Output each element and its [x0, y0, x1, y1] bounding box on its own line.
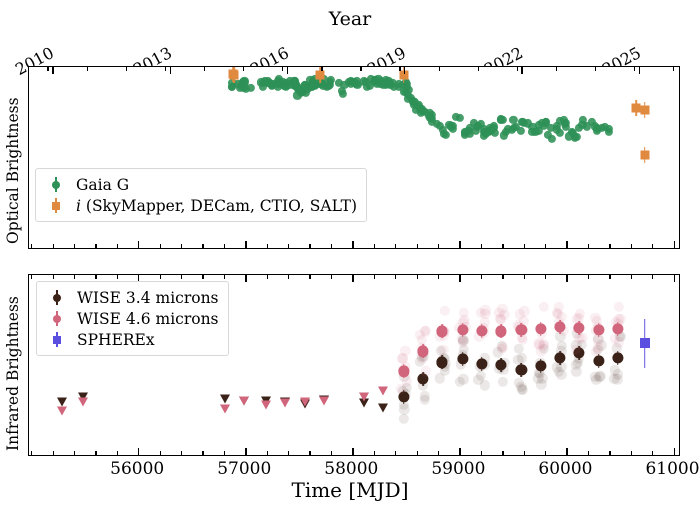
axis-tick — [674, 241, 675, 248]
axis-tick — [639, 67, 640, 74]
optical-y-axis-label: Optical Brightness — [4, 97, 22, 244]
axis-minor-tick — [502, 275, 503, 279]
axis-minor-tick — [126, 67, 127, 71]
axis-tick — [459, 241, 460, 248]
upper-limit-marker — [319, 396, 329, 405]
axis-minor-tick — [243, 67, 244, 71]
infrared-legend: WISE 3.4 micronsWISE 4.6 micronsSPHEREx — [36, 281, 229, 356]
data-point — [613, 301, 623, 311]
data-point — [595, 371, 605, 381]
upper-limit-marker — [57, 406, 67, 415]
data-point — [449, 125, 457, 133]
axis-minor-tick — [181, 275, 182, 279]
upper-limit-marker — [280, 399, 290, 408]
axis-minor-tick — [95, 275, 96, 279]
axis-minor-tick — [288, 451, 289, 455]
legend-item[interactable]: WISE 3.4 microns — [43, 287, 219, 308]
axis-minor-tick — [395, 275, 396, 279]
axis-tick — [566, 241, 567, 248]
axis-minor-tick — [545, 451, 546, 455]
axis-minor-tick — [360, 67, 361, 71]
axis-minor-tick — [31, 244, 32, 248]
legend-item[interactable]: SPHEREx — [43, 329, 219, 350]
axis-tick — [352, 241, 353, 248]
upper-limit-marker — [78, 398, 88, 407]
figure-lightcurve: Year 201020132016201920222025 Optical Br… — [0, 0, 700, 511]
axis-tick — [566, 275, 567, 282]
mjd-tick-label: 56000 — [110, 459, 164, 479]
data-point — [230, 70, 239, 79]
data-point — [571, 367, 581, 377]
mjd-tick-label: 57000 — [217, 459, 271, 479]
axis-minor-tick — [631, 244, 632, 248]
axis-minor-tick — [202, 451, 203, 455]
axis-tick — [245, 448, 246, 455]
bottom-axis-title: Time [MJD] — [0, 478, 700, 502]
upper-limit-marker — [378, 387, 388, 396]
data-point — [325, 82, 333, 90]
legend-circle-icon — [43, 294, 71, 302]
axis-tick — [674, 448, 675, 455]
axis-tick — [245, 275, 246, 282]
axis-minor-tick — [652, 244, 653, 248]
axis-minor-tick — [74, 244, 75, 248]
axis-minor-tick — [417, 275, 418, 279]
data-point — [491, 129, 499, 137]
mjd-tick-label: 59000 — [431, 459, 485, 479]
axis-minor-tick — [524, 275, 525, 279]
legend-square-icon — [43, 336, 71, 344]
axis-minor-tick — [288, 244, 289, 248]
axis-tick — [352, 448, 353, 455]
axis-minor-tick — [202, 275, 203, 279]
axis-minor-tick — [309, 244, 310, 248]
axis-minor-tick — [481, 244, 482, 248]
data-point — [339, 89, 347, 97]
axis-minor-tick — [439, 67, 440, 71]
data-point — [421, 326, 431, 336]
axis-minor-tick — [395, 451, 396, 455]
data-point — [246, 84, 254, 92]
axis-minor-tick — [588, 275, 589, 279]
axis-minor-tick — [53, 451, 54, 455]
axis-tick — [404, 67, 405, 74]
legend-label: WISE 4.6 microns — [71, 310, 219, 328]
data-point — [612, 352, 623, 363]
axis-tick — [245, 241, 246, 248]
axis-minor-tick — [321, 67, 322, 71]
axis-minor-tick — [31, 451, 32, 455]
axis-minor-tick — [481, 275, 482, 279]
axis-minor-tick — [331, 451, 332, 455]
axis-minor-tick — [634, 67, 635, 71]
data-point — [593, 355, 604, 366]
axis-minor-tick — [399, 67, 400, 71]
axis-minor-tick — [117, 275, 118, 279]
data-point — [593, 324, 604, 335]
axis-minor-tick — [224, 275, 225, 279]
data-point — [612, 374, 622, 384]
axis-minor-tick — [87, 67, 88, 71]
axis-minor-tick — [524, 451, 525, 455]
axis-minor-tick — [502, 244, 503, 248]
axis-tick — [674, 275, 675, 282]
axis-minor-tick — [95, 451, 96, 455]
axis-minor-tick — [652, 275, 653, 279]
axis-minor-tick — [181, 244, 182, 248]
mjd-tick-label: 60000 — [538, 459, 592, 479]
axis-minor-tick — [309, 451, 310, 455]
axis-tick — [459, 448, 460, 455]
axis-minor-tick — [267, 451, 268, 455]
upper-limit-marker — [300, 398, 310, 407]
axis-minor-tick — [588, 451, 589, 455]
axis-minor-tick — [545, 275, 546, 279]
axis-minor-tick — [478, 67, 479, 71]
legend-circle-icon — [43, 315, 71, 323]
axis-minor-tick — [74, 275, 75, 279]
data-point — [316, 70, 325, 79]
axis-tick — [138, 448, 139, 455]
data-point — [640, 150, 649, 159]
legend-label: SPHEREx — [71, 331, 155, 349]
axis-minor-tick — [517, 67, 518, 71]
axis-minor-tick — [309, 275, 310, 279]
data-point — [498, 342, 508, 352]
data-point — [496, 326, 507, 337]
axis-minor-tick — [288, 275, 289, 279]
axis-minor-tick — [417, 244, 418, 248]
axis-minor-tick — [331, 275, 332, 279]
axis-minor-tick — [609, 244, 610, 248]
axis-tick — [287, 67, 288, 74]
optical-legend: Gaia Gi (SkyMapper, DECam, CTIO, SALT) — [35, 168, 367, 222]
axis-minor-tick — [165, 67, 166, 71]
upper-limit-marker — [261, 401, 271, 410]
data-point — [516, 364, 527, 375]
axis-minor-tick — [438, 244, 439, 248]
data-point — [517, 127, 525, 135]
axis-minor-tick — [95, 244, 96, 248]
axis-minor-tick — [609, 275, 610, 279]
axis-tick — [52, 67, 53, 74]
axis-tick — [352, 275, 353, 282]
data-point — [539, 302, 549, 312]
top-axis-title: Year — [0, 8, 700, 30]
axis-minor-tick — [438, 451, 439, 455]
axis-minor-tick — [224, 451, 225, 455]
upper-limit-marker — [220, 394, 230, 403]
data-point — [480, 380, 490, 390]
mjd-tick-label: 61000 — [645, 459, 699, 479]
axis-minor-tick — [524, 244, 525, 248]
axis-minor-tick — [160, 244, 161, 248]
legend-square-icon — [42, 202, 70, 210]
axis-minor-tick — [673, 67, 674, 71]
axis-minor-tick — [588, 244, 589, 248]
axis-tick — [566, 448, 567, 455]
data-point — [536, 379, 546, 389]
axis-tick — [170, 67, 171, 74]
axis-minor-tick — [31, 275, 32, 279]
legend-item[interactable]: WISE 4.6 microns — [43, 308, 219, 329]
axis-minor-tick — [267, 275, 268, 279]
upper-limit-marker — [378, 403, 388, 412]
upper-limit-marker — [239, 396, 249, 405]
axis-minor-tick — [117, 244, 118, 248]
axis-tick — [459, 275, 460, 282]
data-point — [614, 337, 624, 347]
axis-minor-tick — [438, 275, 439, 279]
legend-item[interactable]: Gaia G — [42, 174, 357, 195]
axis-minor-tick — [117, 451, 118, 455]
axis-tick — [138, 241, 139, 248]
axis-minor-tick — [282, 67, 283, 71]
data-point — [517, 385, 527, 395]
axis-minor-tick — [181, 451, 182, 455]
axis-minor-tick — [502, 451, 503, 455]
mjd-tick-label: 58000 — [324, 459, 378, 479]
legend-item[interactable]: i (SkyMapper, DECam, CTIO, SALT) — [42, 195, 357, 216]
data-point — [456, 114, 464, 122]
data-point — [442, 131, 450, 139]
upper-limit-marker — [359, 392, 369, 401]
data-point — [640, 338, 650, 348]
legend-label: WISE 3.4 microns — [71, 289, 219, 307]
axis-minor-tick — [609, 451, 610, 455]
axis-minor-tick — [395, 244, 396, 248]
axis-minor-tick — [481, 451, 482, 455]
data-point — [420, 366, 430, 376]
legend-circle-icon — [42, 181, 70, 189]
data-point — [556, 369, 566, 379]
axis-minor-tick — [374, 275, 375, 279]
axis-minor-tick — [74, 451, 75, 455]
data-point — [399, 404, 409, 414]
axis-minor-tick — [652, 451, 653, 455]
axis-minor-tick — [417, 451, 418, 455]
data-point — [399, 414, 409, 424]
axis-minor-tick — [202, 244, 203, 248]
axis-minor-tick — [47, 67, 48, 71]
data-point — [548, 134, 556, 142]
axis-minor-tick — [160, 275, 161, 279]
infrared-y-axis-label: Infrared Brightness — [4, 296, 22, 451]
axis-minor-tick — [631, 275, 632, 279]
axis-minor-tick — [204, 67, 205, 71]
axis-minor-tick — [595, 67, 596, 71]
legend-label: Gaia G — [70, 176, 129, 194]
axis-minor-tick — [631, 451, 632, 455]
axis-minor-tick — [545, 244, 546, 248]
axis-minor-tick — [224, 244, 225, 248]
data-point — [457, 324, 468, 335]
data-point — [439, 306, 449, 316]
axis-minor-tick — [556, 67, 557, 71]
axis-tick — [521, 67, 522, 74]
data-point — [640, 106, 649, 115]
axis-minor-tick — [160, 451, 161, 455]
axis-minor-tick — [267, 244, 268, 248]
data-point — [497, 377, 507, 387]
data-point — [457, 353, 468, 364]
data-point — [535, 360, 546, 371]
upper-limit-marker — [220, 404, 230, 413]
axis-minor-tick — [53, 244, 54, 248]
axis-minor-tick — [53, 275, 54, 279]
axis-minor-tick — [374, 451, 375, 455]
axis-minor-tick — [331, 244, 332, 248]
legend-label: i (SkyMapper, DECam, CTIO, SALT) — [70, 197, 357, 215]
data-point — [458, 374, 468, 384]
axis-minor-tick — [374, 244, 375, 248]
